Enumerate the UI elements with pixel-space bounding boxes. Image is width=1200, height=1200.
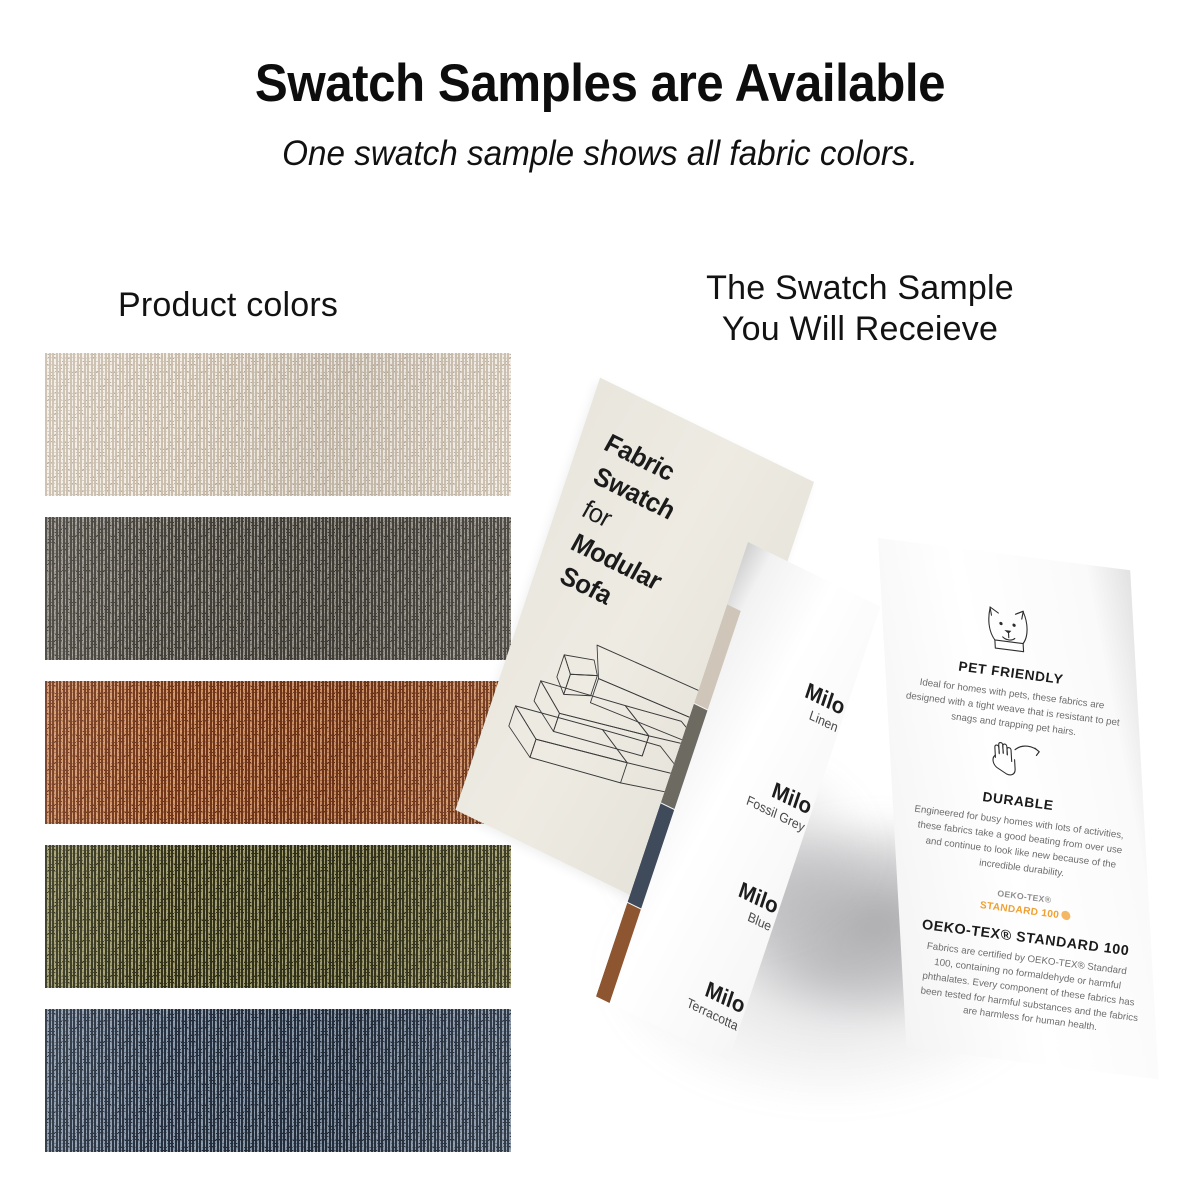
brochure-info-panel: PET FRIENDLY Ideal for homes with pets, …: [878, 538, 1159, 1080]
page-title: Swatch Samples are Available: [42, 0, 1158, 112]
swatch-sheen: [45, 353, 511, 496]
product-color-swatch-list: [45, 353, 511, 1152]
header: Swatch Samples are Available One swatch …: [0, 0, 1200, 174]
oeko-tex-logo-mark: [1061, 910, 1071, 920]
product-color-swatch: [45, 845, 511, 988]
brochure-mockup: Fabric Swatch for Modular Sofa MiloLinen…: [560, 430, 1200, 1190]
oeko-tex-logo: OEKO-TEX® STANDARD 100: [963, 885, 1086, 927]
product-color-swatch: [45, 681, 511, 824]
swatch-sheen: [45, 681, 511, 824]
swatch-sample-heading: The Swatch Sample You Will Receieve: [620, 268, 1100, 351]
product-color-swatch: [45, 353, 511, 496]
swatch-sheen: [45, 517, 511, 660]
brochure-chip-label: MiloBlue: [661, 845, 781, 937]
brochure-chip-label: MiloFossil Grey: [694, 745, 814, 837]
dog-icon: [977, 603, 1040, 658]
swatch-sheen: [45, 1009, 511, 1152]
info-block-durable: DURABLE Engineered for busy homes with l…: [904, 721, 1132, 890]
brochure-chip-label: MiloLinen: [727, 646, 847, 738]
cover-title-line-3: for: [579, 494, 614, 535]
swatch-sheen: [45, 845, 511, 988]
page-subtitle: One swatch sample shows all fabric color…: [30, 112, 1170, 174]
product-colors-heading: Product colors: [118, 285, 338, 326]
product-color-swatch: [45, 517, 511, 660]
brochure-cover-title: Fabric Swatch for Modular Sofa: [556, 425, 698, 633]
product-color-swatch: [45, 1009, 511, 1152]
hand-pinch-fabric-icon: [984, 732, 1047, 787]
info-block-certification: OEKO-TEX® STANDARD 100 Fabrics are certi…: [915, 915, 1140, 1042]
brochure-chip-list: MiloLinenMiloFossil GreyMiloBlueMiloTerr…: [748, 542, 880, 607]
